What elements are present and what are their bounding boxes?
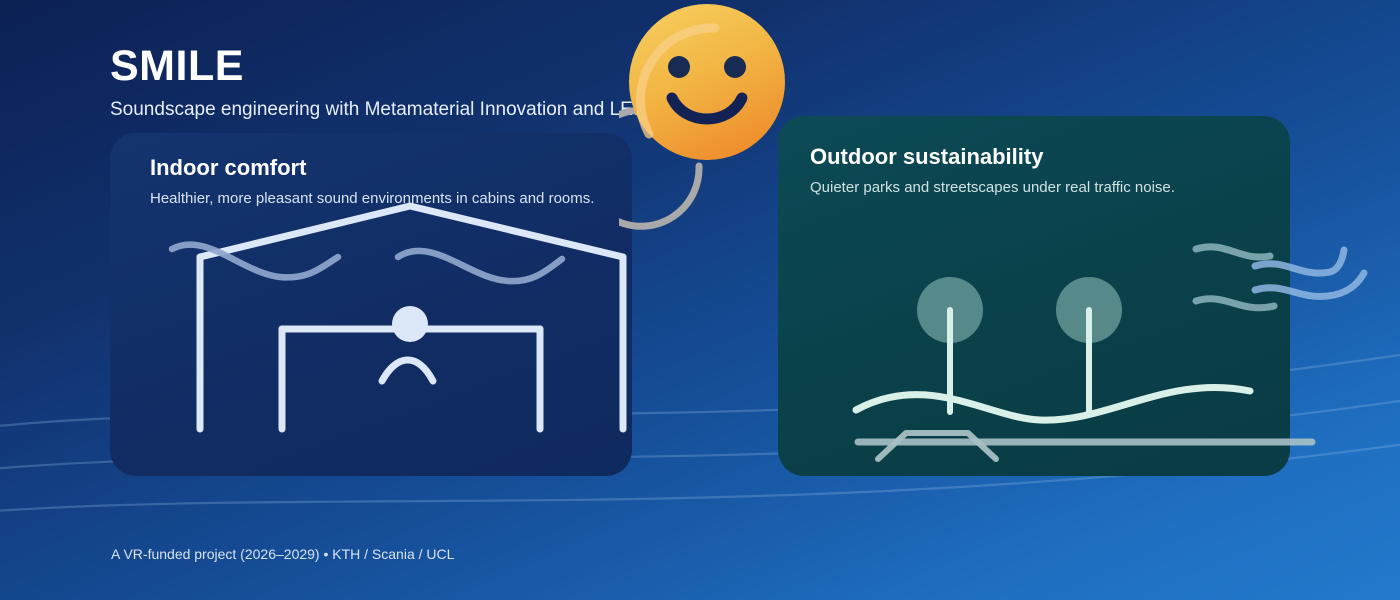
smiley-eye-left-icon <box>668 56 690 78</box>
smiley-face-logo[interactable] <box>619 0 795 268</box>
poster-canvas: SMILE Soundscape engineering with Metama… <box>0 0 1400 600</box>
footer-note: A VR-funded project (2026–2029) • KTH / … <box>111 546 454 562</box>
outdoor-sound-waves-overflow <box>1255 250 1364 296</box>
smiley-eye-right-icon <box>724 56 746 78</box>
